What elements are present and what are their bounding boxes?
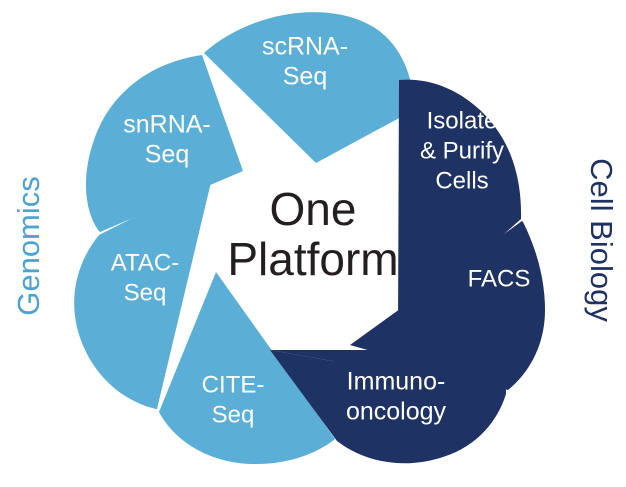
side-label-cell-biology: Cell Biology [583, 125, 619, 355]
petal-label-scrna-seq-line2: Seq [283, 63, 327, 91]
petal-label-isolate-line1: Isolate [427, 107, 498, 134]
petal-label-immuno-oncology-line1: Immuno- [347, 368, 446, 396]
petal-label-atac-seq-line1: ATAC- [111, 249, 179, 276]
petal-label-snrna-seq-line2: Seq [145, 141, 189, 169]
center-title-line1: One [270, 183, 357, 235]
petal-label-scrna-seq-line1: scRNA- [262, 33, 348, 61]
petal-label-immuno-oncology-line2: oncology [346, 398, 447, 426]
petal-label-atac-seq-line2: Seq [124, 279, 167, 306]
petal-scrna-seq[interactable]: scRNA- Seq [204, 12, 414, 163]
petal-label-isolate-line2: & Purify [420, 137, 504, 164]
petal-label-snrna-seq-line1: snRNA- [123, 111, 211, 139]
center-title-line2: Platform [227, 233, 398, 285]
side-label-genomics: Genomics [11, 156, 47, 336]
petal-label-facs-line1: FACS [468, 265, 531, 292]
center-title: One Platform [227, 183, 398, 285]
petal-label-cite-seq-line1: CITE- [202, 371, 265, 398]
diagram-canvas: scRNA- Seq snRNA- Seq ATAC- Seq CITE- Se… [0, 0, 626, 487]
petal-label-cite-seq-line2: Seq [212, 401, 255, 428]
pinwheel-diagram: scRNA- Seq snRNA- Seq ATAC- Seq CITE- Se… [0, 0, 626, 487]
petal-label-isolate-line3: Cells [435, 167, 488, 194]
